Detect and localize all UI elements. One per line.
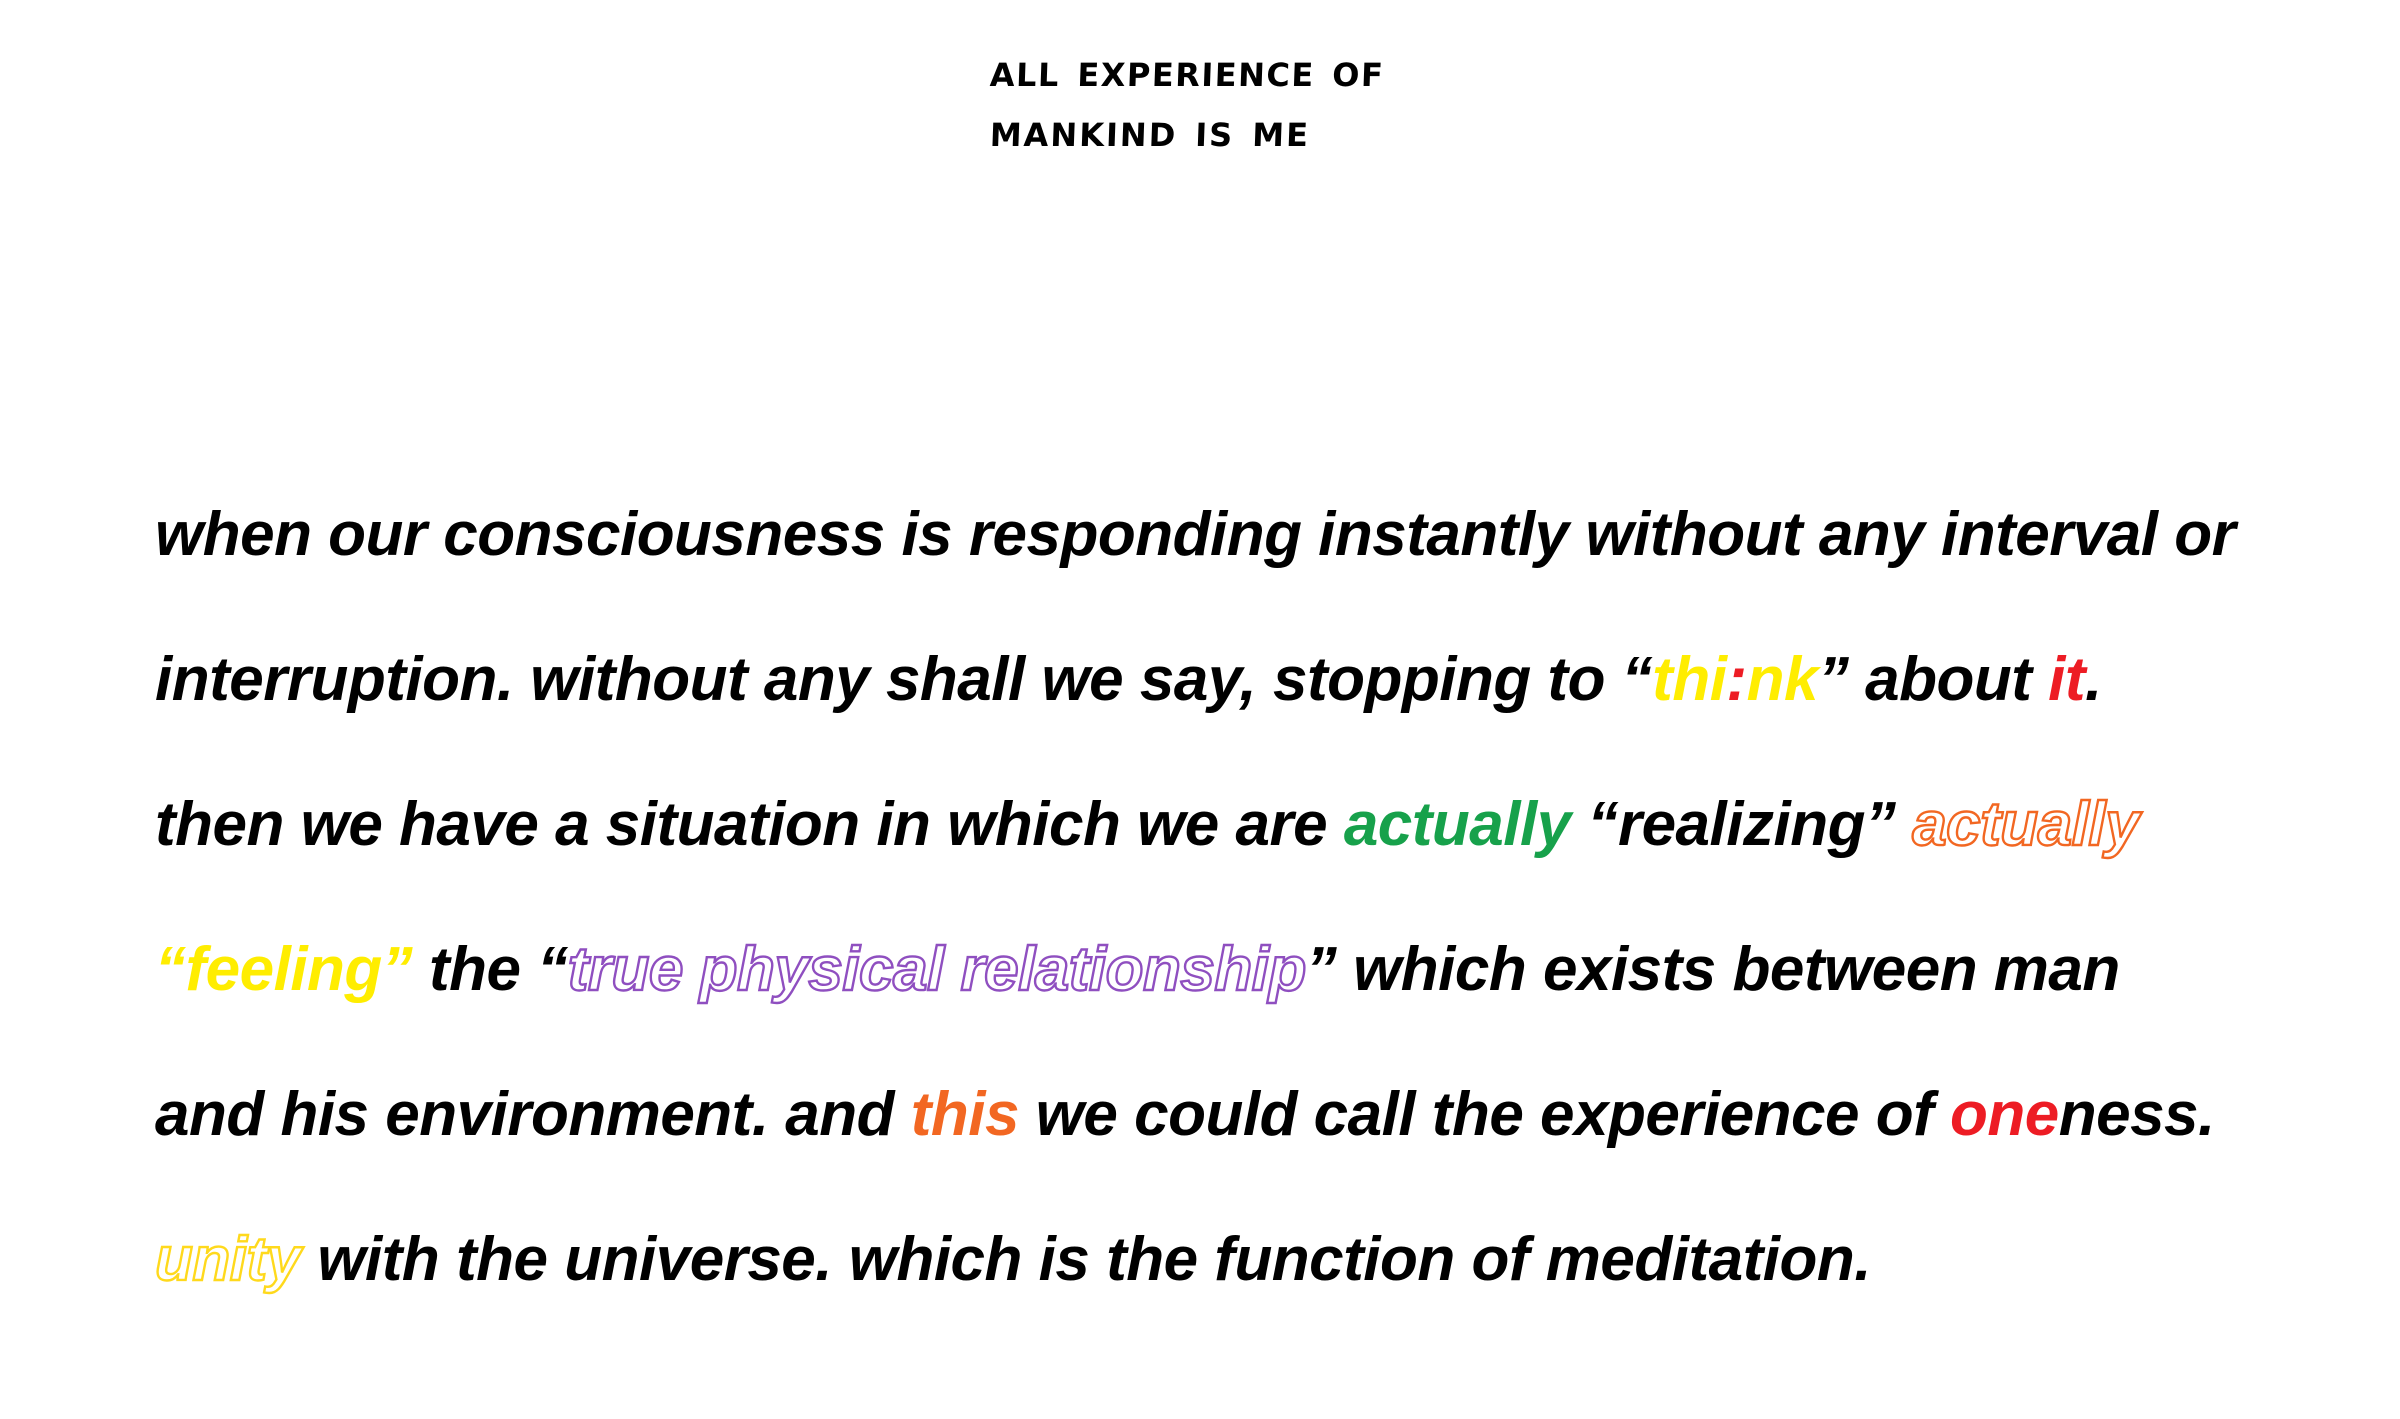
header-note-line-2: mankind is me <box>989 100 2400 160</box>
quote-line-6: unity with the universe. which is the fu… <box>155 1187 2285 1332</box>
text-run-highlight-one: one <box>1950 1080 2059 1149</box>
quote-line-3: then we have a situation in which we are… <box>155 752 2285 897</box>
text-run-highlight-think: thi <box>1652 645 1726 714</box>
text-run: and his environment. and <box>155 1080 911 1149</box>
text-run: ” about <box>1818 645 2048 714</box>
header-note: all experience of mankind is me <box>0 40 2400 160</box>
quote-body: when our consciousness is responding ins… <box>155 462 2285 1332</box>
text-run: ness. <box>2059 1080 2215 1149</box>
text-run: interruption. without any shall we say, … <box>155 645 1652 714</box>
text-run-outline-actually-orange: actually <box>1912 790 2139 859</box>
quote-line-1: when our consciousness is responding ins… <box>155 462 2285 607</box>
quote-line-2: interruption. without any shall we say, … <box>155 607 2285 752</box>
text-run: when our consciousness is responding ins… <box>155 500 2235 569</box>
text-run-highlight-this: this <box>911 1080 1019 1149</box>
quote-line-5: and his environment. and this we could c… <box>155 1042 2285 1187</box>
text-run: the “ <box>412 935 567 1004</box>
text-run-highlight-it: it <box>2048 645 2085 714</box>
slide-canvas: all experience of mankind is me when our… <box>0 0 2400 1419</box>
text-run: with the universe. which is the function… <box>301 1225 1871 1294</box>
text-run-highlight-think-2: nk <box>1747 645 1818 714</box>
text-run: ” which exists between man <box>1306 935 2120 1004</box>
text-run-colon: : <box>1726 645 1746 714</box>
quote-line-4: “feeling” the “true physical relationshi… <box>155 897 2285 1042</box>
header-note-line-1: all experience of <box>989 40 2400 100</box>
text-run-highlight-feeling: “feeling” <box>155 935 412 1004</box>
text-run: “realizing” <box>1571 790 1912 859</box>
text-run-outline-true-physical-relationship: true physical relationship <box>568 935 1306 1004</box>
text-run: then we have a situation in which we are <box>155 790 1344 859</box>
text-run: . <box>2085 645 2102 714</box>
text-run-highlight-actually-green: actually <box>1344 790 1571 859</box>
text-run: we could call the experience of <box>1019 1080 1950 1149</box>
text-run-outline-unity: unity <box>155 1225 301 1294</box>
